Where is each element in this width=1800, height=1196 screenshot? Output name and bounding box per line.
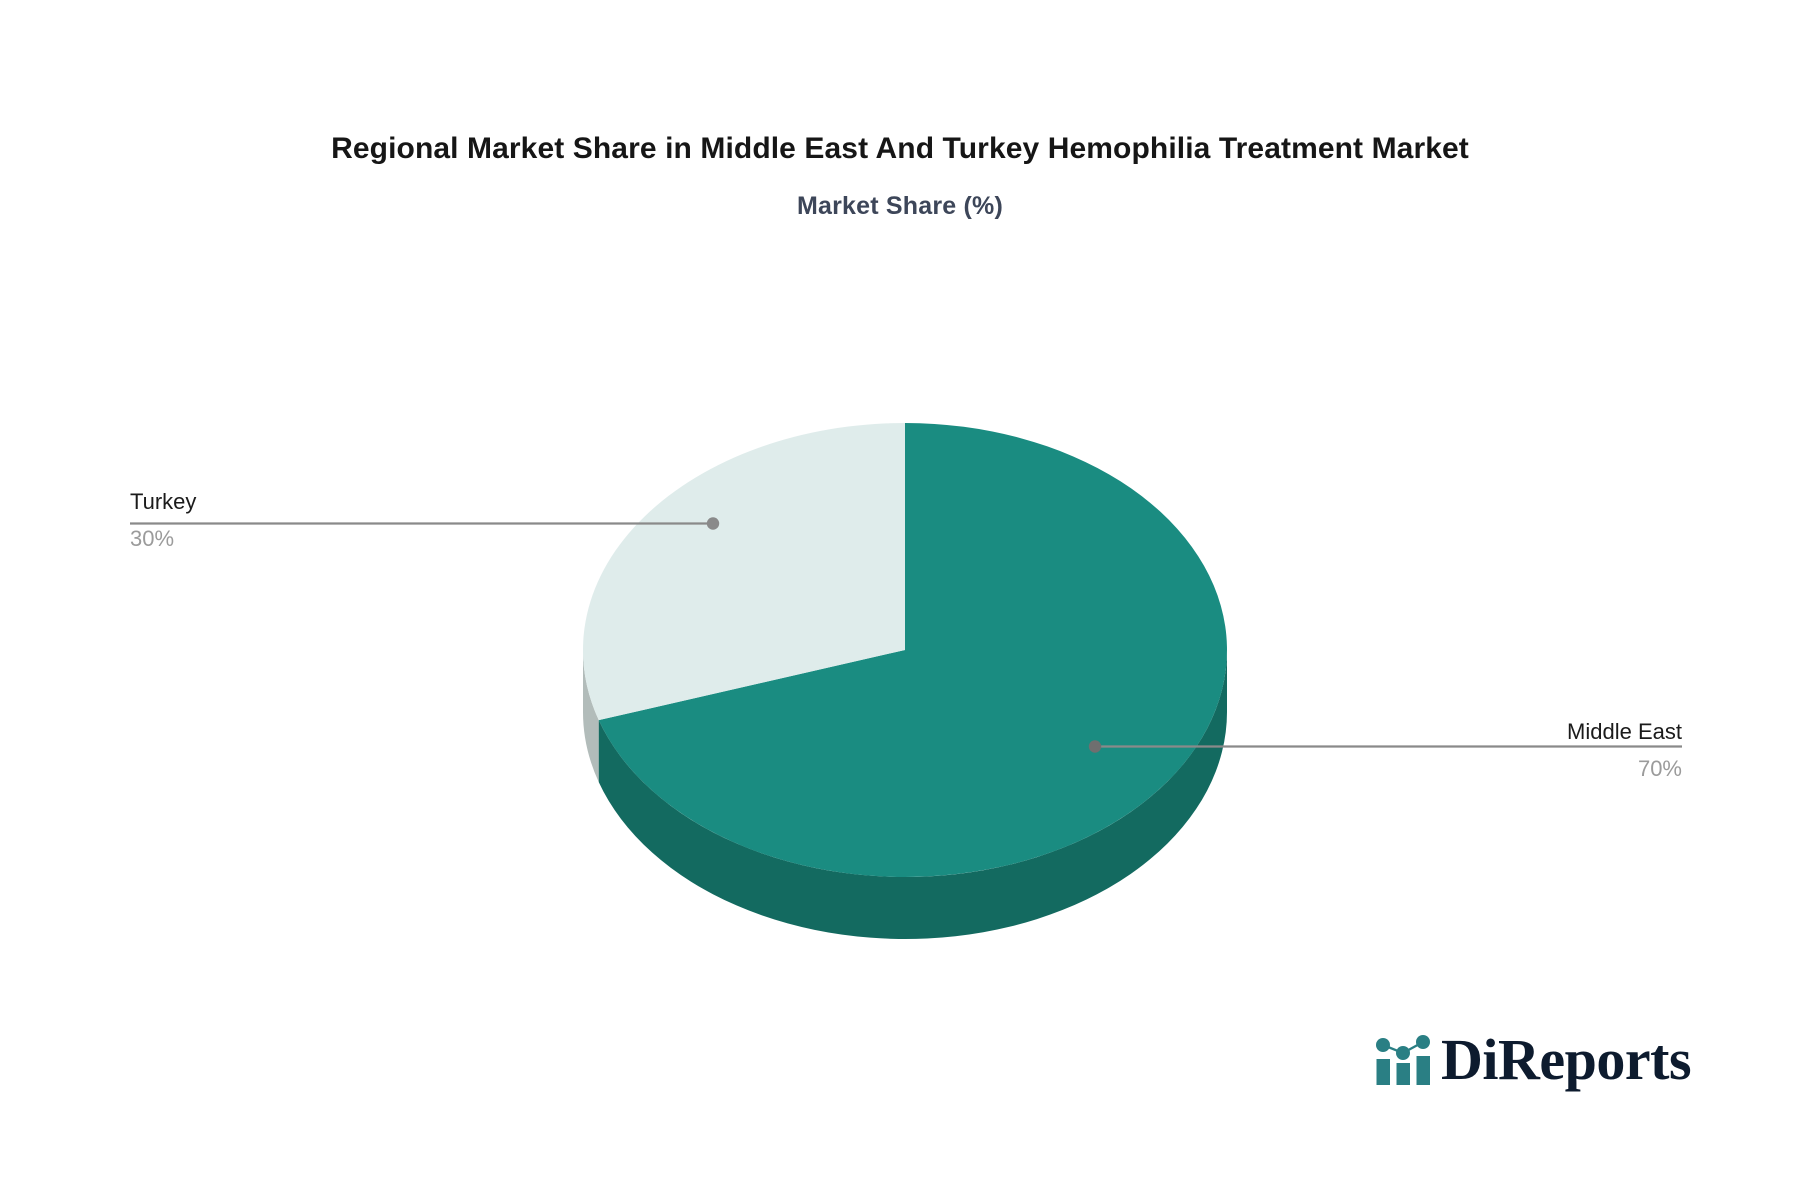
logo-wordmark: DiReports [1441, 1031, 1691, 1089]
pie-label-middle-east-name: Middle East [1567, 719, 1682, 745]
bar-chart-icon [1374, 1034, 1432, 1086]
pie-chart-canvas [0, 0, 1800, 1196]
pie-label-middle-east-value: 70% [1567, 756, 1682, 782]
connector-turkey [130, 517, 719, 529]
direports-logo: DiReports [1374, 1031, 1691, 1089]
chart-title: Regional Market Share in Middle East And… [0, 132, 1800, 166]
pie-label-turkey-name: Turkey [130, 489, 196, 515]
pie-label-turkey: Turkey 30% [130, 489, 196, 552]
pie-label-turkey-value: 30% [130, 526, 196, 552]
pie-label-middle-east: Middle East 70% [1567, 719, 1682, 782]
chart-subtitle: Market Share (%) [0, 192, 1800, 221]
